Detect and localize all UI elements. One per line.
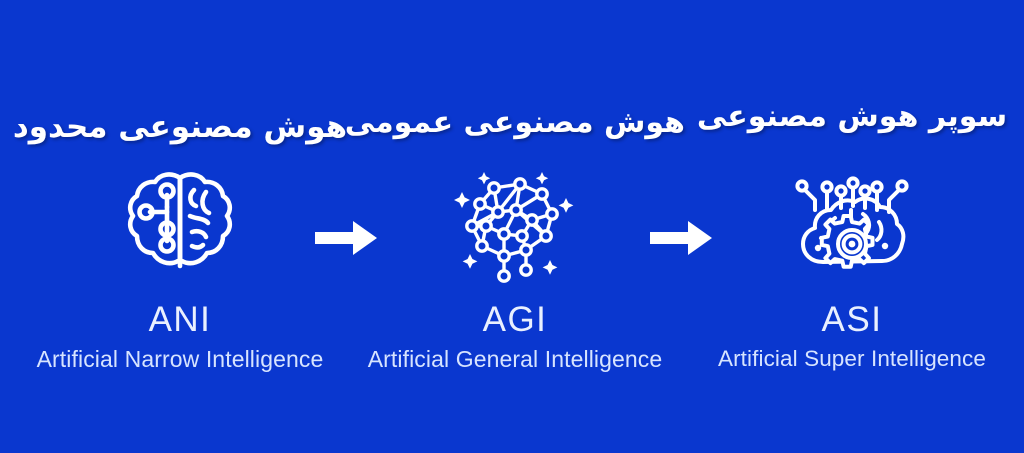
stage-agi-heading-fa: هوش مصنوعی عمومی [345, 106, 685, 139]
stage-agi-abbreviation: AGI [345, 302, 685, 337]
infographic-canvas: هوش مصنوعی محدود [0, 0, 1024, 453]
stage-ani-full-name: Artificial Narrow Intelligence [10, 348, 350, 371]
neural-network-brain-icon [345, 166, 685, 284]
brain-circuit-icon [10, 166, 350, 284]
stage-agi: هوش مصنوعی عمومی [345, 0, 685, 453]
stage-asi: سوپر هوش مصنوعی [682, 0, 1022, 453]
stage-asi-heading-fa: سوپر هوش مصنوعی [682, 100, 1022, 133]
stage-agi-full-name: Artificial General Intelligence [345, 348, 685, 371]
brain-gear-cloud-icon [682, 166, 1022, 284]
stage-asi-full-name: Artificial Super Intelligence [682, 348, 1022, 371]
stage-ani: هوش مصنوعی محدود [10, 0, 350, 453]
stage-asi-abbreviation: ASI [682, 302, 1022, 337]
stage-ani-heading-fa: هوش مصنوعی محدود [10, 110, 350, 144]
stage-ani-abbreviation: ANI [10, 302, 350, 337]
